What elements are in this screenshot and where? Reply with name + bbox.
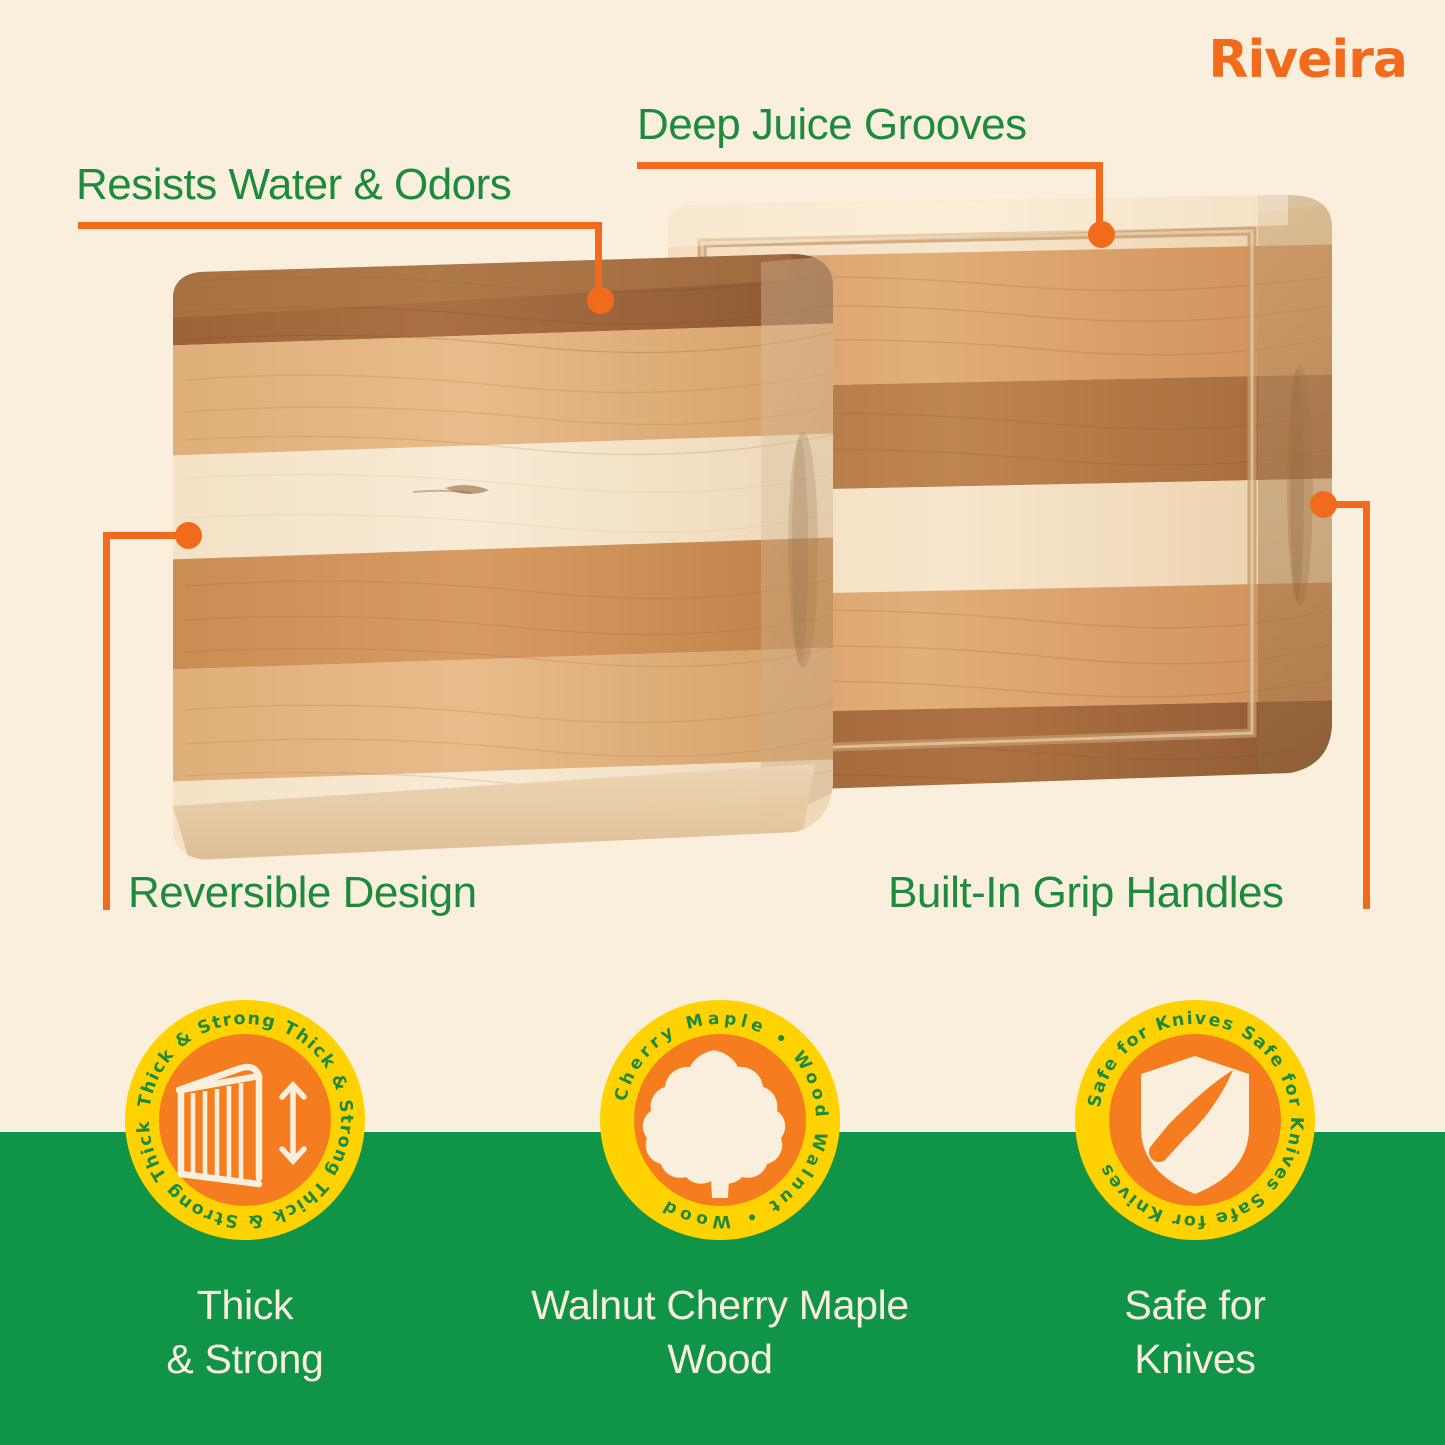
badge-wood-types: Cherry Maple • Wood Walnut • Wood xyxy=(598,998,842,1242)
leader-line-resists-water-horizontal xyxy=(78,222,602,229)
callout-label-deep-juice-grooves: Deep Juice Grooves xyxy=(637,100,1027,150)
leader-line-grip-handles-vertical xyxy=(1363,501,1370,909)
front-cutting-board xyxy=(155,240,855,880)
leader-line-reversible-vertical xyxy=(103,532,110,910)
badge-safe-for-knives: Safe for Knives Safe for Knives Safe for… xyxy=(1073,998,1317,1242)
callout-label-reversible-design: Reversible Design xyxy=(128,868,477,918)
badge-caption-safe-for-knives: Safe for Knives xyxy=(1000,1278,1390,1386)
caption-line-2: & Strong xyxy=(95,1332,395,1386)
infographic-canvas: Resists Water & Odors Deep Juice Grooves… xyxy=(0,0,1445,1445)
caption-line-2: Wood xyxy=(480,1332,960,1386)
leader-dot-juice-grooves xyxy=(1088,221,1115,248)
caption-line-1: Thick xyxy=(95,1278,395,1332)
leader-line-reversible-horizontal xyxy=(103,532,183,539)
caption-line-2: Knives xyxy=(1000,1332,1390,1386)
leader-line-juice-grooves-horizontal xyxy=(637,162,1103,169)
brand-logo: Riveira xyxy=(1208,30,1407,90)
leader-line-juice-grooves-vertical xyxy=(1096,162,1103,228)
caption-line-1: Safe for xyxy=(1000,1278,1390,1332)
callout-label-built-in-grip-handles: Built-In Grip Handles xyxy=(888,868,1283,918)
caption-line-1: Walnut Cherry Maple xyxy=(480,1278,960,1332)
callout-label-resists-water-odors: Resists Water & Odors xyxy=(76,160,511,210)
badge-thick-and-strong: Thick & Strong Thick & Strong Thick & St… xyxy=(123,998,367,1242)
leader-line-resists-water-vertical xyxy=(595,222,602,294)
badge-caption-wood-types: Walnut Cherry Maple Wood xyxy=(480,1278,960,1386)
badge-caption-thick-and-strong: Thick & Strong xyxy=(95,1278,395,1386)
leader-dot-resists-water xyxy=(587,287,614,314)
